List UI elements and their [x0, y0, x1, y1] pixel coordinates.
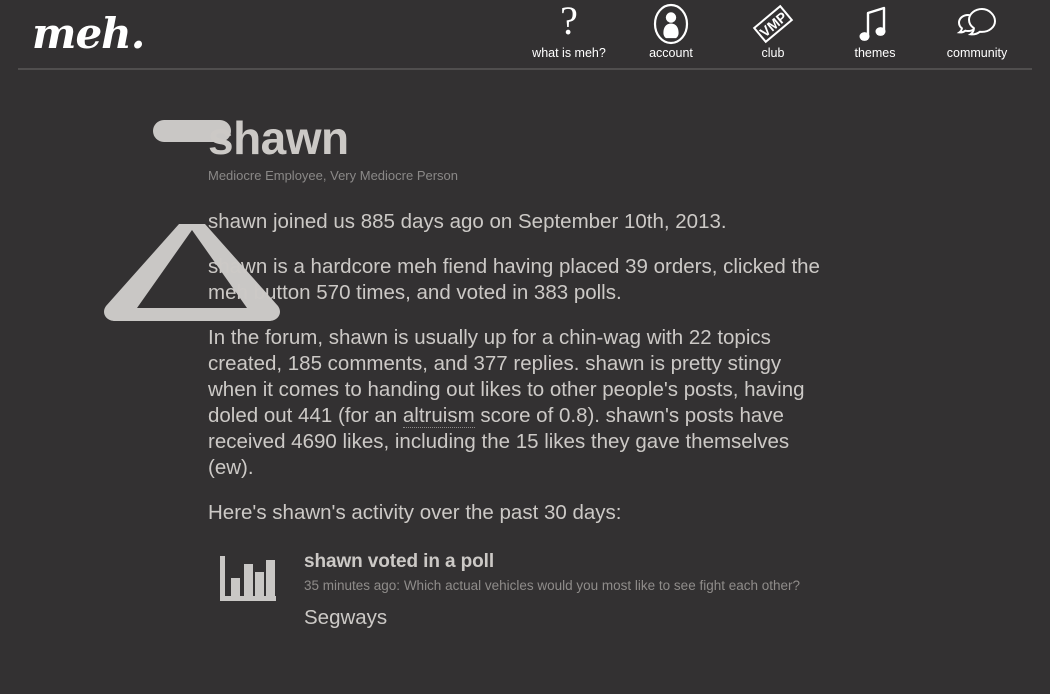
- nav-label-community: community: [947, 46, 1007, 66]
- nav-item-club[interactable]: VMP club: [722, 0, 824, 66]
- activity-icon-container: [208, 550, 304, 631]
- nav-label-account: account: [649, 46, 693, 66]
- activity-meta: 35 minutes ago: Which actual vehicles wo…: [304, 576, 800, 595]
- bio-activity-intro: Here's shawn's activity over the past 30…: [208, 500, 820, 526]
- activity-title[interactable]: shawn voted in a poll: [304, 550, 800, 574]
- profile-details: shawn Mediocre Employee, Very Mediocre P…: [200, 118, 820, 631]
- vmp-club-icon: VMP: [751, 3, 795, 45]
- user-circle-icon: [651, 3, 691, 45]
- profile-tagline: Mediocre Employee, Very Mediocre Person: [208, 167, 820, 185]
- nav-item-what-is-meh[interactable]: ? what is meh?: [518, 0, 620, 66]
- bio-orders: shawn is a hardcore meh fiend having pla…: [208, 254, 820, 306]
- question-mark-icon: ?: [552, 3, 586, 45]
- bio-forum: In the forum, shawn is usually up for a …: [208, 325, 820, 481]
- altruism-term[interactable]: altruism: [403, 404, 475, 428]
- speech-bubbles-icon: [954, 3, 1000, 45]
- header-divider: [18, 68, 1032, 70]
- nav-item-account[interactable]: account: [620, 0, 722, 66]
- music-note-icon: [857, 3, 893, 45]
- profile-section: shawn Mediocre Employee, Very Mediocre P…: [0, 71, 1050, 631]
- activity-feed: shawn voted in a poll 35 minutes ago: Wh…: [208, 550, 820, 631]
- profile-bio: shawn joined us 885 days ago on Septembe…: [208, 209, 820, 526]
- nav-label-themes: themes: [855, 46, 896, 66]
- page-title: shawn: [208, 112, 820, 164]
- avatar: [0, 118, 200, 631]
- activity-item: shawn voted in a poll 35 minutes ago: Wh…: [304, 550, 800, 631]
- nav-item-community[interactable]: community: [926, 0, 1028, 66]
- svg-text:?: ?: [560, 3, 578, 43]
- bar-chart-icon: [218, 590, 278, 607]
- main-navigation: ? what is meh? account: [518, 0, 1028, 66]
- site-header: meh. ? what is meh? account: [0, 0, 1050, 71]
- nav-item-themes[interactable]: themes: [824, 0, 926, 66]
- site-logo[interactable]: meh.: [32, 9, 144, 59]
- activity-answer: Segways: [304, 605, 800, 631]
- nav-label-club: club: [762, 46, 785, 66]
- bio-joined: shawn joined us 885 days ago on Septembe…: [208, 209, 820, 235]
- main-content: shawn Mediocre Employee, Very Mediocre P…: [0, 71, 1050, 631]
- nav-label-what-is-meh: what is meh?: [532, 46, 606, 66]
